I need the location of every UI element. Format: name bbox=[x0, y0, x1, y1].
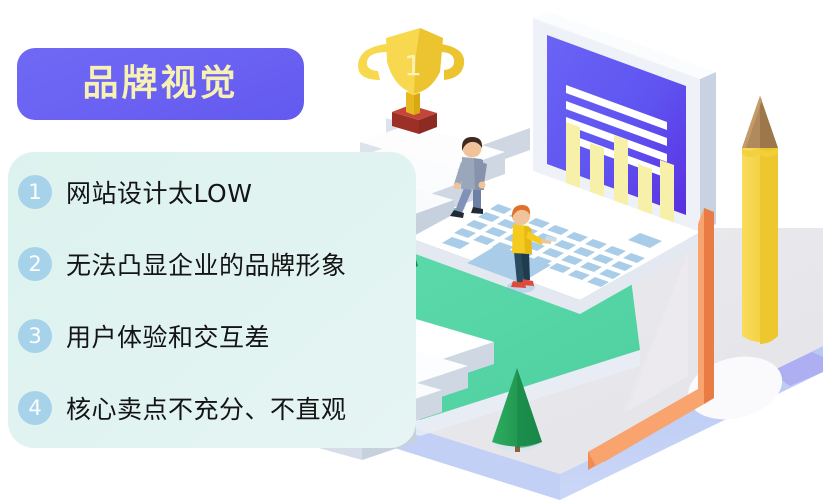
bullet-label: 用户体验和交互差 bbox=[66, 318, 270, 354]
list-item: 1 网站设计太LOW bbox=[18, 172, 438, 212]
bullet-label: 核心卖点不充分、不直观 bbox=[66, 390, 347, 426]
screenshot-root: 1 bbox=[0, 0, 823, 500]
bullet-number-badge: 4 bbox=[18, 391, 52, 425]
page-title: 品牌视觉 bbox=[82, 66, 238, 102]
title-badge: 品牌视觉 bbox=[17, 48, 304, 120]
trophy-number: 1 bbox=[404, 49, 422, 82]
bullet-number-badge: 1 bbox=[18, 175, 52, 209]
bullet-list: 1 网站设计太LOW 2 无法凸显企业的品牌形象 3 用户体验和交互差 4 核心… bbox=[18, 172, 438, 460]
pencil bbox=[742, 96, 778, 344]
bullet-number-badge: 3 bbox=[18, 319, 52, 353]
list-item: 4 核心卖点不充分、不直观 bbox=[18, 388, 438, 428]
bullet-label: 无法凸显企业的品牌形象 bbox=[66, 246, 347, 282]
bullet-label: 网站设计太LOW bbox=[66, 174, 252, 210]
bullet-number-badge: 2 bbox=[18, 247, 52, 281]
list-item: 2 无法凸显企业的品牌形象 bbox=[18, 244, 438, 284]
list-item: 3 用户体验和交互差 bbox=[18, 316, 438, 356]
